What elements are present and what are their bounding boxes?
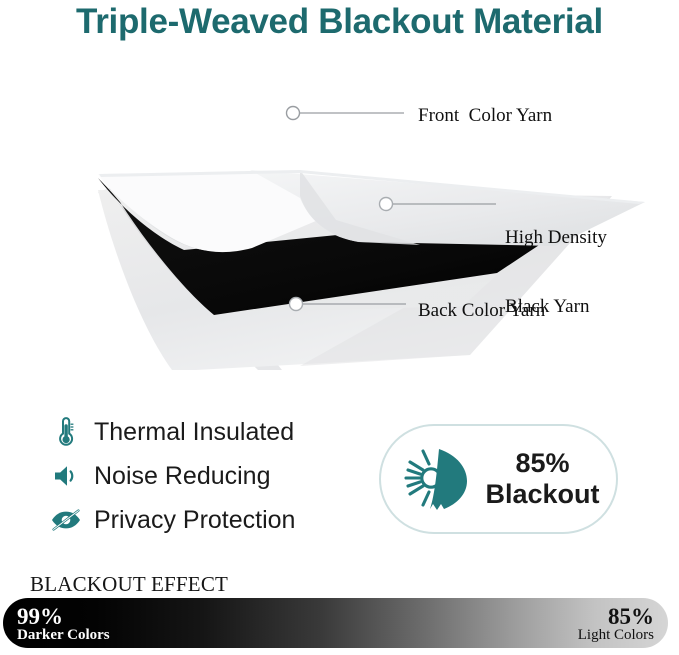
feature-label: Thermal Insulated [94, 418, 294, 447]
blackout-gradient-bar: 99% Darker Colors 85% Light Colors [3, 598, 668, 648]
thermometer-icon [48, 415, 84, 449]
blackout-stat-light-colors: 85% Light Colors [578, 605, 654, 644]
speaker-sound-icon [48, 459, 84, 493]
stat-percent: 99% [17, 605, 110, 628]
blackout-percentage-badge: 85% Blackout [379, 424, 618, 534]
callout-label-back-color-yarn: Back Color Yarn [418, 299, 545, 322]
sun-blocked-by-shade-icon [393, 440, 477, 518]
feature-item-thermal-insulated: Thermal Insulated [48, 410, 368, 454]
blackout-stat-darker-colors: 99% Darker Colors [17, 605, 110, 644]
callout-label-line1: High Density [505, 226, 607, 249]
feature-label: Noise Reducing [94, 462, 271, 491]
stat-label: Light Colors [578, 628, 654, 643]
features-list: Thermal Insulated Noise Reducing Privacy… [48, 410, 368, 542]
callout-label-front-color-yarn: Front Color Yarn [418, 104, 552, 127]
blackout-badge-text: 85% Blackout [477, 448, 616, 510]
blackout-effect-heading: BLACKOUT EFFECT [30, 572, 228, 597]
feature-item-privacy-protection: Privacy Protection [48, 498, 368, 542]
eye-slash-icon [48, 503, 84, 537]
stat-percent: 85% [578, 605, 654, 628]
blackout-word: Blackout [477, 479, 608, 510]
stat-label: Darker Colors [17, 628, 110, 643]
feature-item-noise-reducing: Noise Reducing [48, 454, 368, 498]
feature-label: Privacy Protection [94, 506, 295, 535]
page-title: Triple-Weaved Blackout Material [0, 2, 679, 42]
blackout-percent: 85% [477, 448, 608, 479]
callout-leader-front [287, 107, 405, 120]
